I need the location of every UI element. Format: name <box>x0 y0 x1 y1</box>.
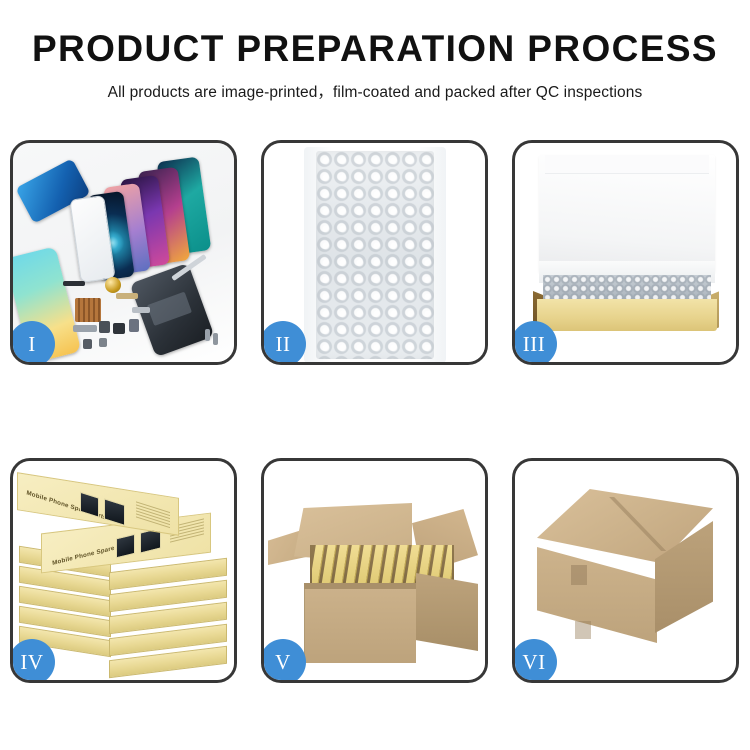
flex-cable-icon <box>63 281 85 286</box>
product-preparation-infographic: PRODUCT PREPARATION PROCESS All products… <box>0 0 750 750</box>
small-part-icon <box>99 321 110 333</box>
screw-icon <box>205 329 210 341</box>
step-panel-3[interactable]: III <box>512 140 739 365</box>
step-panel-5[interactable]: V <box>261 458 488 683</box>
carton-flap-tab <box>571 565 587 585</box>
bubble-wrap-icon <box>316 151 434 359</box>
step-badge-2: II <box>261 321 306 365</box>
box-spec-lines <box>136 501 170 530</box>
carton-flap-tab <box>575 621 591 639</box>
step-badge-5: V <box>261 639 306 683</box>
carton-front-face <box>537 547 657 643</box>
bubble-wrapped-contents <box>543 275 711 301</box>
flex-cable-icon <box>73 325 97 332</box>
small-part-icon <box>129 319 139 332</box>
page-subtitle: All products are image-printed，film-coat… <box>0 80 750 102</box>
page-title: PRODUCT PREPARATION PROCESS <box>0 30 750 69</box>
box-lid-icon <box>539 155 715 273</box>
kraft-box-front <box>537 299 717 331</box>
box-phone-thumbnail <box>104 498 125 526</box>
chip-part-icon <box>75 298 101 322</box>
carton-front-face <box>304 589 416 663</box>
header: PRODUCT PREPARATION PROCESS All products… <box>0 0 750 102</box>
coil-part-icon <box>105 277 121 293</box>
step-badge-6: VI <box>512 639 557 683</box>
flex-cable-icon <box>116 293 138 299</box>
step-panel-4[interactable]: Mobile Phone Spare Parts Mobile Phone Sp… <box>10 458 237 683</box>
box-phone-thumbnail <box>116 534 135 559</box>
small-part-icon <box>83 339 92 349</box>
small-part-icon <box>99 338 107 347</box>
process-grid: I II III <box>10 140 740 683</box>
small-part-icon <box>113 323 125 334</box>
step-panel-6[interactable]: VI <box>512 458 739 683</box>
flex-cable-icon <box>132 307 150 313</box>
step-badge-4: IV <box>10 639 55 683</box>
step-badge-3: III <box>512 321 557 365</box>
step-badge-1: I <box>10 321 55 365</box>
step-panel-2[interactable]: II <box>261 140 488 365</box>
carton-side-face <box>416 573 478 651</box>
screw-icon <box>213 333 218 345</box>
step-panel-1[interactable]: I <box>10 140 237 365</box>
